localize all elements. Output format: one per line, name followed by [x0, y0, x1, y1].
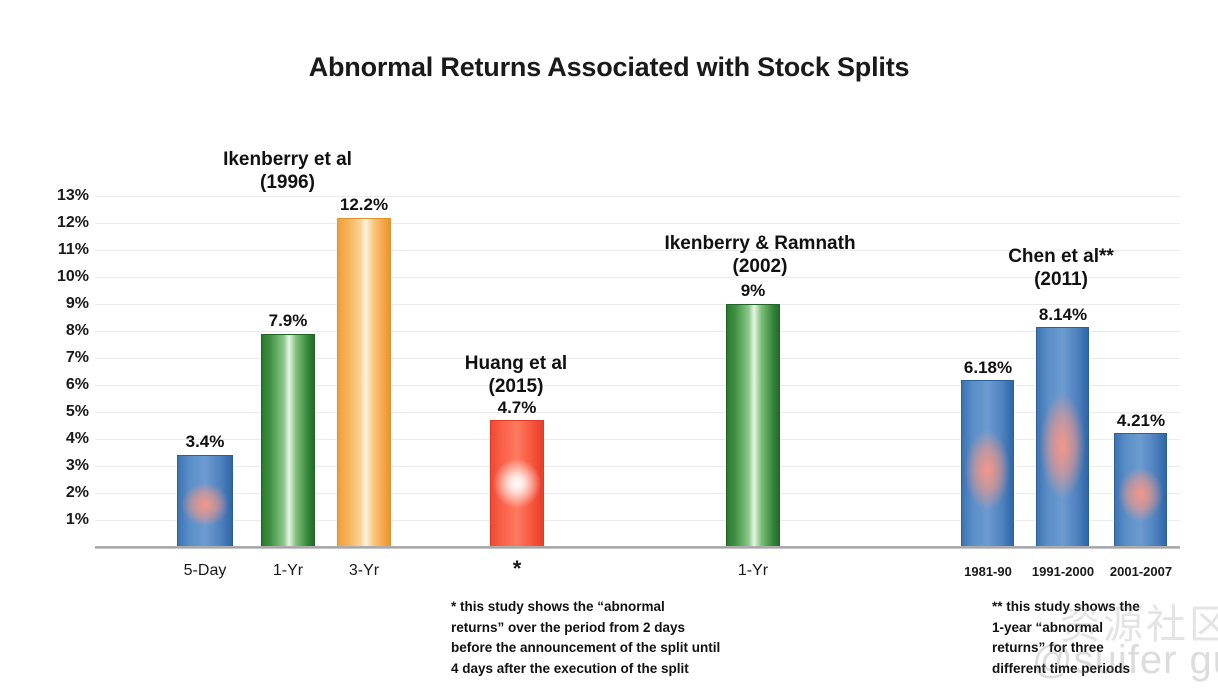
- bar-1-yr-ikenberry[interactable]: [261, 334, 315, 547]
- footnote-single-asterisk: * this study shows the “abnormal returns…: [451, 597, 781, 679]
- group-heading-line2: (1996): [195, 171, 380, 194]
- footnote-one-line1: * this study shows the “abnormal: [451, 597, 781, 618]
- y-tick-13: 13%: [33, 187, 89, 205]
- x-label-1-yr-ikenberry: 1-Yr: [248, 562, 328, 580]
- bar-value-1991-2000: 8.14%: [1022, 305, 1104, 325]
- gridline-13: [95, 196, 1180, 197]
- footnote-double-asterisk: ** this study shows the 1-year “abnormal…: [992, 597, 1192, 679]
- x-label-3-yr-ikenberry: 3-Yr: [324, 562, 404, 580]
- group-heading-line1: Ikenberry & Ramnath: [630, 232, 890, 255]
- y-tick-2: 2%: [33, 484, 89, 502]
- gridline-5: [95, 412, 1180, 413]
- group-heading-ikenberry-ramnath-2002: Ikenberry & Ramnath (2002): [630, 232, 890, 278]
- y-tick-8: 8%: [33, 322, 89, 340]
- group-heading-line1: Huang et al: [426, 352, 606, 375]
- group-heading-line2: (2015): [426, 375, 606, 398]
- x-label-1981-90: 1981-90: [948, 564, 1028, 579]
- bar-value-1-yr-ramnath: 9%: [713, 281, 793, 301]
- y-axis: 13% 12% 11% 10% 9% 8% 7% 6% 5% 4% 3% 2% …: [33, 196, 89, 548]
- bar-value-2001-2007: 4.21%: [1100, 411, 1182, 431]
- bar-2001-2007[interactable]: [1114, 433, 1167, 547]
- footnote-two-line1: ** this study shows the: [992, 597, 1192, 618]
- group-heading-line2: (2002): [630, 255, 890, 278]
- bar-1-yr-ramnath[interactable]: [726, 304, 780, 547]
- y-tick-10: 10%: [33, 268, 89, 286]
- footnote-one-line3: before the announcement of the split unt…: [451, 638, 781, 659]
- y-tick-3: 3%: [33, 457, 89, 475]
- bar-5-day[interactable]: [177, 455, 233, 547]
- bar-1981-90[interactable]: [961, 380, 1014, 547]
- x-axis-baseline: [95, 546, 1180, 549]
- footnote-two-line2: 1-year “abnormal: [992, 618, 1192, 639]
- x-label-1-yr-ramnath: 1-Yr: [713, 562, 793, 580]
- footnote-two-line3: returns” for three: [992, 638, 1192, 659]
- gridline-3: [95, 466, 1180, 467]
- gridline-6: [95, 385, 1180, 386]
- y-tick-1: 1%: [33, 511, 89, 529]
- y-tick-6: 6%: [33, 376, 89, 394]
- gridline-9: [95, 304, 1180, 305]
- y-tick-4: 4%: [33, 430, 89, 448]
- gridline-8: [95, 331, 1180, 332]
- gridline-4: [95, 439, 1180, 440]
- footnote-two-line4: different time periods: [992, 659, 1192, 680]
- bar-value-1981-90: 6.18%: [948, 358, 1028, 378]
- gridline-2: [95, 493, 1180, 494]
- gridline-12: [95, 223, 1180, 224]
- x-label-huang-asterisk: *: [477, 556, 557, 582]
- footnote-one-line2: returns” over the period from 2 days: [451, 618, 781, 639]
- group-heading-line1: Chen et al**: [970, 245, 1152, 268]
- page-title: Abnormal Returns Associated with Stock S…: [0, 52, 1218, 83]
- bar-value-5-day: 3.4%: [165, 432, 245, 452]
- group-heading-huang-2015: Huang et al (2015): [426, 352, 606, 398]
- group-heading-chen-2011: Chen et al** (2011): [970, 245, 1152, 291]
- y-tick-5: 5%: [33, 403, 89, 421]
- group-heading-line2: (2011): [970, 268, 1152, 291]
- y-tick-12: 12%: [33, 214, 89, 232]
- chart-canvas: Abnormal Returns Associated with Stock S…: [0, 0, 1218, 692]
- x-label-5-day: 5-Day: [165, 562, 245, 580]
- footnote-one-line4: 4 days after the execution of the split: [451, 659, 781, 680]
- bar-value-1-yr-ikenberry: 7.9%: [248, 311, 328, 331]
- bar-value-3-yr-ikenberry: 12.2%: [322, 195, 406, 215]
- x-label-2001-2007: 2001-2007: [1098, 564, 1184, 579]
- bar-3-yr-ikenberry[interactable]: [337, 218, 391, 547]
- bar-huang[interactable]: [490, 420, 544, 547]
- bar-value-huang: 4.7%: [476, 398, 558, 418]
- y-tick-7: 7%: [33, 349, 89, 367]
- y-tick-11: 11%: [33, 241, 89, 259]
- y-tick-9: 9%: [33, 295, 89, 313]
- gridline-1: [95, 520, 1180, 521]
- group-heading-line1: Ikenberry et al: [195, 148, 380, 171]
- group-heading-ikenberry-1996: Ikenberry et al (1996): [195, 148, 380, 194]
- x-label-1991-2000: 1991-2000: [1020, 564, 1106, 579]
- bar-1991-2000[interactable]: [1036, 327, 1089, 547]
